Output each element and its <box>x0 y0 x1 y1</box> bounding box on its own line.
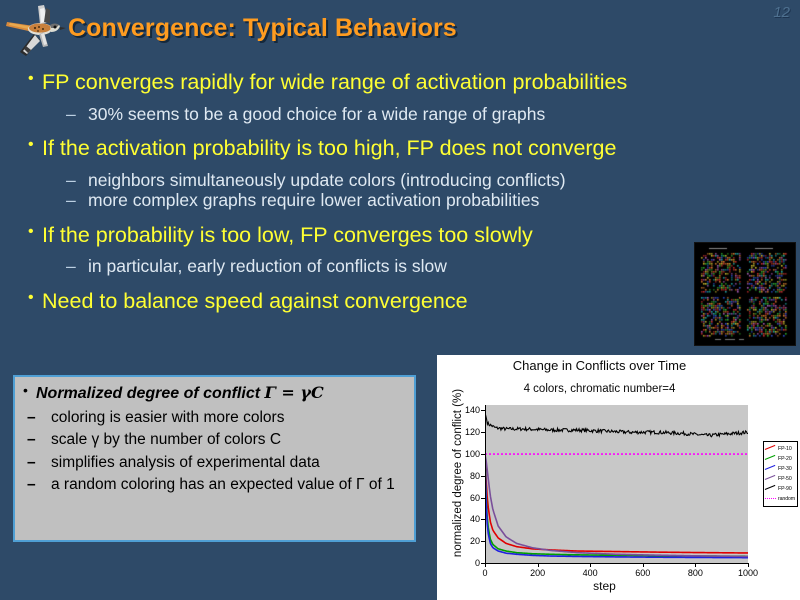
bullet-text: more complex graphs require lower activa… <box>88 190 539 210</box>
dash-marker-icon: – <box>66 258 76 276</box>
bullet-level2: – 30% seems to be a good choice for a wi… <box>28 106 776 124</box>
x-tick-mark <box>695 563 696 567</box>
y-tick-label: 80 <box>470 471 480 481</box>
chart-legend: FP-10FP-20FP-30FP-50FP-90random <box>763 441 798 507</box>
bullet-level1: • If the probability is too low, FP conv… <box>28 225 776 247</box>
legend-label: FP-90 <box>778 486 792 492</box>
y-tick-mark <box>481 476 485 477</box>
y-tick-mark <box>481 541 485 542</box>
legend-item: random <box>765 494 796 504</box>
legend-item: FP-50 <box>765 474 796 484</box>
legend-label: FP-20 <box>778 456 792 462</box>
chart-series-svg <box>485 405 748 563</box>
dash-marker-icon: – <box>27 454 36 471</box>
x-tick-mark <box>748 563 749 567</box>
legend-item: FP-20 <box>765 454 796 464</box>
infobox-item: – scale γ by the number of colors C <box>23 431 406 448</box>
x-axis-line <box>485 563 748 564</box>
normalized-conflict-infobox: • Normalized degree of conflict Γ = γC –… <box>13 375 416 542</box>
x-tick-label: 200 <box>530 568 545 578</box>
chart-series-line <box>485 454 748 556</box>
legend-label: random <box>778 496 795 502</box>
slide-title: Convergence: Typical Behaviors <box>68 14 457 43</box>
bullet-level1: • FP converges rapidly for wide range of… <box>28 72 776 94</box>
legend-item: FP-10 <box>765 444 796 454</box>
bullet-marker-icon: • <box>28 290 34 306</box>
dash-marker-icon: – <box>66 106 76 124</box>
y-tick-mark <box>481 498 485 499</box>
chart-series-line <box>485 454 748 553</box>
bullet-text: in particular, early reduction of confli… <box>88 256 447 276</box>
legend-color-swatch <box>765 465 776 473</box>
legend-label: FP-50 <box>778 476 792 482</box>
infobox-item: – coloring is easier with more colors <box>23 409 406 426</box>
x-tick-mark <box>590 563 591 567</box>
bullet-text: neighbors simultaneously update colors (… <box>88 170 566 190</box>
y-tick-mark <box>481 519 485 520</box>
infobox-heading-formula: Γ = γC <box>264 383 323 402</box>
kestrel-bird-icon <box>4 2 68 58</box>
infobox-item: – simplifies analysis of experimental da… <box>23 454 406 471</box>
dash-marker-icon: – <box>27 431 36 448</box>
y-tick-label: 140 <box>465 405 480 415</box>
legend-label: FP-10 <box>778 446 792 452</box>
legend-color-swatch <box>765 485 776 493</box>
chart-series-line <box>485 413 748 437</box>
bullet-text: 30% seems to be a good choice for a wide… <box>88 104 545 124</box>
x-tick-label: 600 <box>635 568 650 578</box>
chart-series-line <box>485 454 748 558</box>
chart-plot-area: 020406080100120140 02004006008001000 <box>485 405 748 563</box>
legend-color-swatch <box>765 445 776 453</box>
dash-marker-icon: – <box>27 409 36 426</box>
bullet-level2: – in particular, early reduction of conf… <box>28 258 776 276</box>
infobox-item-text: coloring is easier with more colors <box>51 409 284 426</box>
y-tick-mark <box>481 454 485 455</box>
chart-title: Change in Conflicts over Time <box>437 358 762 373</box>
x-tick-mark <box>643 563 644 567</box>
bullet-marker-icon: • <box>28 71 34 87</box>
chart-y-axis-label: normalized degree of conflict (%) <box>452 378 464 568</box>
dash-marker-icon: – <box>27 476 36 493</box>
conflicts-chart-panel: Change in Conflicts over Time 4 colors, … <box>437 355 800 600</box>
chart-subtitle: 4 colors, chromatic number=4 <box>437 383 762 395</box>
slide-canvas: Convergence: Typical Behaviors 12 • FP c… <box>0 0 800 600</box>
infobox-heading: • Normalized degree of conflict Γ = γC <box>23 383 406 403</box>
infobox-item-text: scale γ by the number of colors C <box>51 431 281 448</box>
bullet-text: If the probability is too low, FP conver… <box>42 223 533 247</box>
x-tick-label: 800 <box>688 568 703 578</box>
bullet-level1: • Need to balance speed against converge… <box>28 291 776 313</box>
y-tick-label: 60 <box>470 493 480 503</box>
x-tick-mark <box>485 563 486 567</box>
x-tick-label: 0 <box>482 568 487 578</box>
y-tick-label: 0 <box>475 558 480 568</box>
x-tick-mark <box>538 563 539 567</box>
bullet-text: FP converges rapidly for wide range of a… <box>42 70 627 94</box>
legend-color-swatch <box>765 475 776 483</box>
legend-item: FP-90 <box>765 484 796 494</box>
slide-number: 12 <box>773 4 790 21</box>
x-tick-label: 400 <box>583 568 598 578</box>
bullet-marker-icon: • <box>23 382 28 398</box>
bullet-level1: • If the activation probability is too h… <box>28 138 776 160</box>
y-tick-label: 100 <box>465 449 480 459</box>
infobox-item-text: a random coloring has an expected value … <box>51 476 395 493</box>
y-tick-mark <box>481 432 485 433</box>
y-tick-label: 40 <box>470 514 480 524</box>
legend-color-swatch <box>765 455 776 463</box>
chart-series-line <box>485 454 748 556</box>
x-tick-label: 1000 <box>738 568 758 578</box>
dash-marker-icon: – <box>66 192 76 210</box>
dash-marker-icon: – <box>66 172 76 190</box>
bullet-level2: – more complex graphs require lower acti… <box>28 192 776 210</box>
chart-x-axis-label: step <box>467 579 742 593</box>
graph-coloring-thumbnail <box>694 242 796 346</box>
legend-color-swatch <box>765 495 776 503</box>
y-tick-label: 120 <box>465 427 480 437</box>
infobox-item-text: simplifies analysis of experimental data <box>51 454 320 471</box>
bullet-marker-icon: • <box>28 137 34 153</box>
y-tick-label: 20 <box>470 536 480 546</box>
bullet-text: Need to balance speed against convergenc… <box>42 289 468 313</box>
y-axis-line <box>485 405 486 563</box>
y-tick-mark <box>481 410 485 411</box>
bullet-marker-icon: • <box>28 224 34 240</box>
bullet-text: If the activation probability is too hig… <box>42 136 616 160</box>
infobox-item: – a random coloring has an expected valu… <box>23 476 406 493</box>
bullet-level2: – neighbors simultaneously update colors… <box>28 172 776 190</box>
slide-body-outline: • FP converges rapidly for wide range of… <box>28 72 776 315</box>
infobox-heading-text: Normalized degree of conflict <box>36 385 264 402</box>
legend-item: FP-30 <box>765 464 796 474</box>
legend-label: FP-30 <box>778 466 792 472</box>
